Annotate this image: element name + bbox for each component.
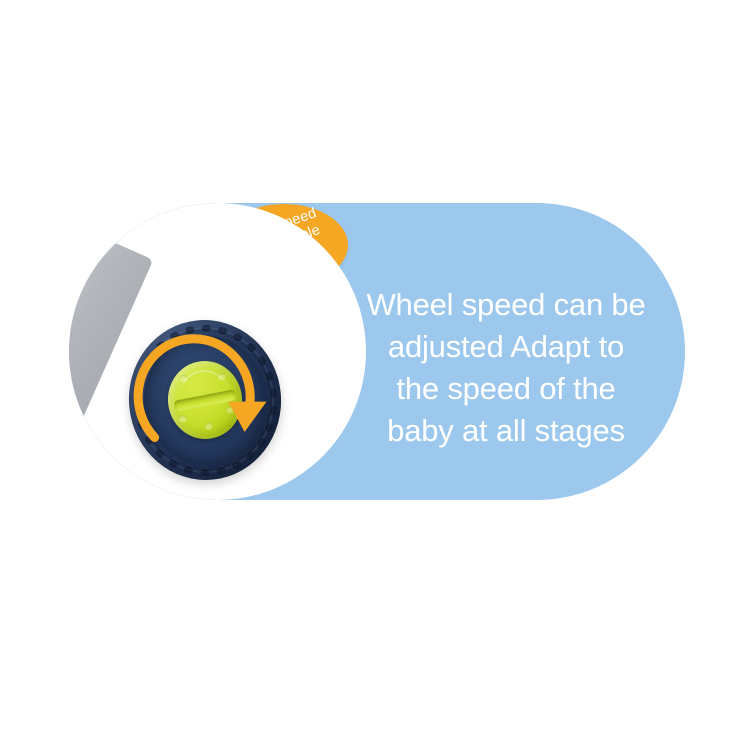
stroller-wheel: [121, 312, 289, 487]
rotation-arrow-icon: [121, 312, 289, 487]
illustration-canvas: Two speed adjustable Wheel speed can be …: [0, 0, 750, 750]
feature-headline: Wheel speed can be adjusted Adapt to the…: [352, 284, 660, 452]
product-photo: [69, 203, 366, 500]
leg-highlight: [69, 210, 91, 352]
product-photo-circle: [69, 203, 366, 500]
